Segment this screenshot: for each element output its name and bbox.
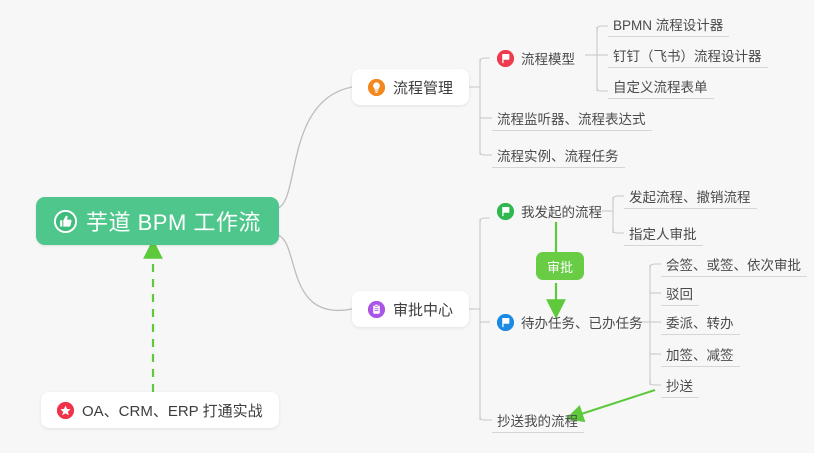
node-delegate-transfer[interactable]: 委派、转办 xyxy=(661,309,740,335)
node-label-add-remove-sign: 加签、减签 xyxy=(666,344,734,364)
node-reject[interactable]: 驳回 xyxy=(661,280,699,306)
node-cc-to-me[interactable]: 抄送我的流程 xyxy=(492,407,584,433)
footer-node-label: OA、CRM、ERP 打通实战 xyxy=(82,400,263,421)
flag-icon-blue xyxy=(497,314,514,331)
node-dingtalk-feishu-designer[interactable]: 钉钉（飞书）流程设计器 xyxy=(608,42,768,68)
root-label: 芋道 BPM 工作流 xyxy=(86,205,261,237)
node-label-my-initiated: 我发起的流程 xyxy=(521,201,602,221)
star-icon xyxy=(57,402,74,419)
approval-badge[interactable]: 审批 xyxy=(536,252,584,280)
node-label-assignee-approval: 指定人审批 xyxy=(629,223,697,243)
edge-ac-to-myinitiated xyxy=(480,218,490,225)
node-assignee-approval[interactable]: 指定人审批 xyxy=(624,220,703,246)
mindmap-canvas: 芋道 BPM 工作流 流程管理 流程模型 BPMN 流程设计器 钉钉（飞书）流程… xyxy=(0,0,814,453)
edge-ac-to-ccme xyxy=(480,414,492,420)
node-label-process-model: 流程模型 xyxy=(521,48,575,68)
node-bpmn-designer[interactable]: BPMN 流程设计器 xyxy=(608,11,729,37)
edge-mi-to-start xyxy=(613,196,624,203)
node-label-cc: 抄送 xyxy=(666,375,693,395)
arrow-cc-to-ccme xyxy=(575,390,655,416)
node-label-instance-task: 流程实例、流程任务 xyxy=(497,145,619,165)
node-multi-sign[interactable]: 会签、或签、依次审批 xyxy=(661,251,807,277)
flag-icon-red xyxy=(497,50,514,67)
branch-label-process-management: 流程管理 xyxy=(393,77,453,98)
node-label-bpmn-designer: BPMN 流程设计器 xyxy=(613,14,723,34)
branch-node-approval-center[interactable]: 审批中心 xyxy=(352,291,469,327)
branch-label-approval-center: 审批中心 xyxy=(393,299,453,320)
edge-ac-spine xyxy=(474,219,480,420)
edge-todo-to-multisign xyxy=(650,264,661,271)
edge-mi-to-assignee xyxy=(613,227,624,233)
flag-icon-green xyxy=(497,203,514,220)
node-label-multi-sign: 会签、或签、依次审批 xyxy=(666,254,801,274)
edge-pm-to-instance xyxy=(480,149,492,155)
node-process-model[interactable]: 流程模型 xyxy=(492,45,581,71)
root-node[interactable]: 芋道 BPM 工作流 xyxy=(36,197,279,245)
node-label-start-cancel: 发起流程、撤销流程 xyxy=(629,186,751,206)
edge-todo-to-cc xyxy=(650,379,661,385)
node-add-remove-sign[interactable]: 加签、减签 xyxy=(661,341,740,367)
node-instance-task[interactable]: 流程实例、流程任务 xyxy=(492,142,625,168)
edge-model-to-customform xyxy=(597,85,608,91)
edge-root-to-process-management xyxy=(278,87,352,208)
node-label-custom-process-form: 自定义流程表单 xyxy=(613,76,708,96)
lightbulb-icon xyxy=(368,79,385,96)
branch-node-process-management[interactable]: 流程管理 xyxy=(352,69,469,105)
edge-pm-spine xyxy=(474,59,480,155)
node-label-listener-expression: 流程监听器、流程表达式 xyxy=(497,108,646,128)
edge-root-to-approval-center xyxy=(278,235,352,310)
node-label-delegate-transfer: 委派、转办 xyxy=(666,312,734,332)
approval-badge-label: 审批 xyxy=(547,257,573,276)
node-label-dingtalk-feishu-designer: 钉钉（飞书）流程设计器 xyxy=(613,45,762,65)
footer-node-oa-crm-erp[interactable]: OA、CRM、ERP 打通实战 xyxy=(41,392,279,428)
node-listener-expression[interactable]: 流程监听器、流程表达式 xyxy=(492,105,652,131)
node-label-reject: 驳回 xyxy=(666,283,693,303)
node-todo-done-tasks[interactable]: 待办任务、已办任务 xyxy=(492,309,649,335)
node-custom-process-form[interactable]: 自定义流程表单 xyxy=(608,73,714,99)
edge-model-to-bpmn xyxy=(597,26,608,33)
node-my-initiated[interactable]: 我发起的流程 xyxy=(492,198,608,224)
node-cc[interactable]: 抄送 xyxy=(661,372,699,398)
node-label-todo-done-tasks: 待办任务、已办任务 xyxy=(521,312,643,332)
edge-pm-to-process-model xyxy=(480,58,490,65)
node-label-cc-to-me: 抄送我的流程 xyxy=(497,410,578,430)
thumbs-up-icon xyxy=(54,210,77,233)
clipboard-icon xyxy=(368,301,385,318)
node-start-cancel[interactable]: 发起流程、撤销流程 xyxy=(624,183,757,209)
